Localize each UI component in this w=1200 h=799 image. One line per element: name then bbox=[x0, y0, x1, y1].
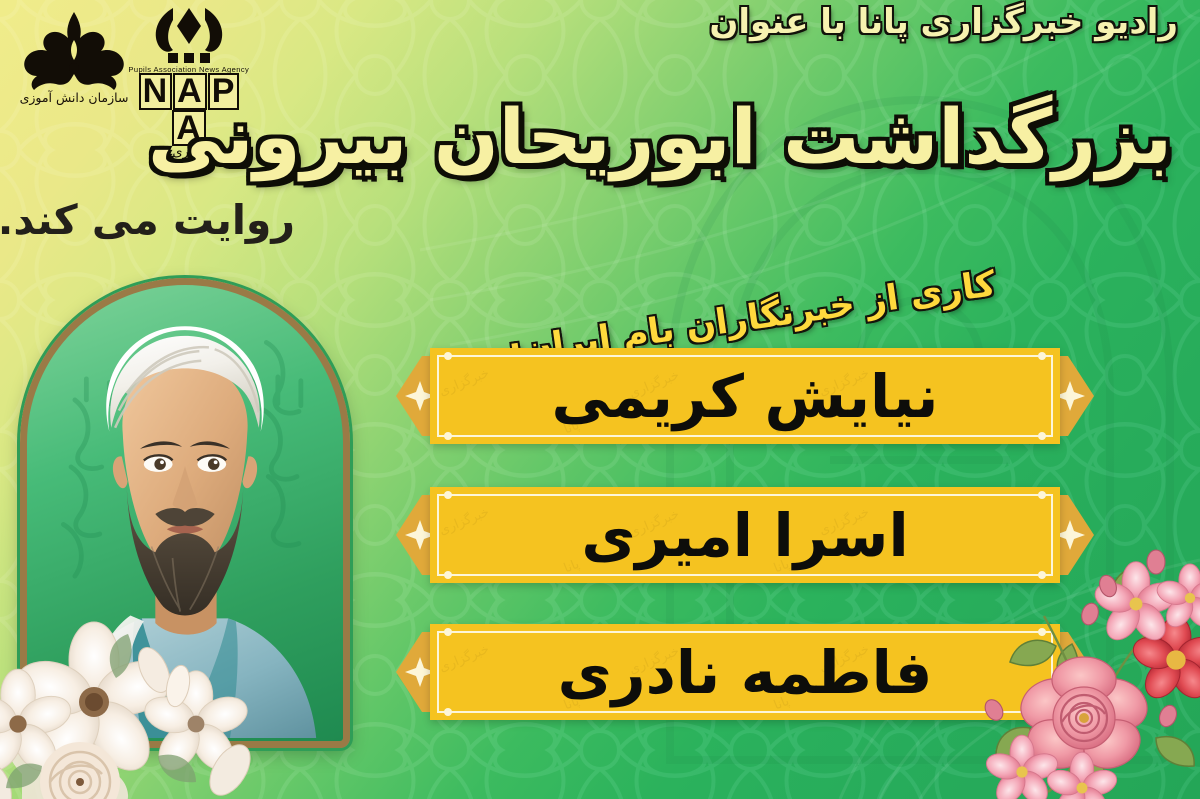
banner-plate: خبرگزاری خبرگزاری خبرگزاری پانا پانا نیا… bbox=[430, 348, 1060, 444]
organization-name: سازمان دانش آموزی bbox=[18, 90, 130, 105]
persian-floral-motif-icon bbox=[18, 10, 130, 92]
svg-text:پانا: پانا bbox=[562, 694, 582, 714]
svg-text:پانا: پانا bbox=[772, 418, 792, 438]
reporter-name: نیایش کریمی bbox=[430, 348, 1060, 444]
svg-text:پانا: پانا bbox=[562, 418, 582, 438]
agency-english-tagline: Pupils Association News Agency bbox=[129, 65, 249, 74]
svg-text:خبرگزاری: خبرگزاری bbox=[817, 504, 872, 539]
svg-text:خبرگزاری: خبرگزاری bbox=[817, 641, 872, 676]
svg-text:خبرگزاری: خبرگزاری bbox=[627, 643, 682, 678]
poster-canvas: سازمان دانش آموزی Pupils Association New… bbox=[0, 0, 1200, 799]
headline-title: بزرگداشت ابوریحان بیرونی bbox=[148, 92, 1172, 181]
svg-text:پانا: پانا bbox=[772, 557, 792, 577]
svg-text:خبرگزاری: خبرگزاری bbox=[437, 504, 492, 539]
organization-logo[interactable]: سازمان دانش آموزی bbox=[18, 10, 130, 128]
svg-text:خبرگزاری: خبرگزاری bbox=[627, 506, 682, 541]
svg-text:خبرگزاری: خبرگزاری bbox=[437, 641, 492, 676]
svg-text:خبرگزاری: خبرگزاری bbox=[627, 367, 682, 402]
banner-watermark: خبرگزاری خبرگزاری خبرگزاری پانا پانا bbox=[430, 348, 1060, 444]
pana-flame-mark-icon bbox=[151, 6, 227, 64]
kicker-text: رادیو خبرگزاری پانا با عنوان bbox=[709, 2, 1178, 42]
reporter-name-banner[interactable]: خبرگزاری خبرگزاری خبرگزاری پانا پانا نیا… bbox=[430, 348, 1060, 444]
svg-text:پانا: پانا bbox=[772, 694, 792, 714]
svg-text:خبرگزاری: خبرگزاری bbox=[817, 365, 872, 400]
svg-text:پانا: پانا bbox=[562, 557, 582, 577]
white-flower-bouquet-decoration bbox=[0, 574, 282, 799]
pink-rose-decoration bbox=[960, 542, 1200, 799]
svg-text:خبرگزاری: خبرگزاری bbox=[437, 365, 492, 400]
subline-text: روایت می کند... bbox=[0, 196, 295, 244]
